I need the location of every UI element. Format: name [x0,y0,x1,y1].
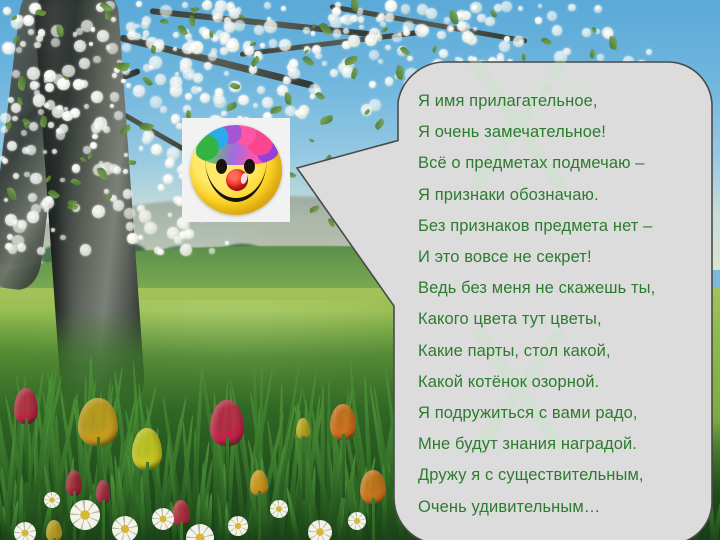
blossom-icon [4,198,8,202]
blossom-icon [26,145,36,155]
tulip-flower-icon [172,500,190,526]
blossom-icon [262,97,273,108]
blossom-icon [143,130,154,141]
blossom-icon [51,38,60,47]
blossom-icon [142,36,146,40]
blossom-icon [340,16,347,23]
blossom-icon [111,17,116,22]
blossom-icon [121,79,125,83]
tulip-flower-icon [14,388,38,424]
smiley-icon [190,125,282,215]
blossom-icon [92,205,105,218]
tulip-flower-icon [210,400,244,446]
tulip-flower-icon [132,428,162,470]
daisy-petals-icon [228,516,248,536]
blossom-icon [447,25,454,32]
blossom-icon [180,244,192,256]
blossom-icon [91,27,95,31]
blossom-icon [163,174,173,184]
blossom-icon [519,40,523,44]
blossom-icon [12,116,17,121]
blossom-icon [267,17,271,21]
blossom-icon [99,161,103,165]
poem-line: Я подружиться с вами радо, [418,398,708,429]
daisy-petals-icon [44,492,60,508]
blossom-icon [38,109,44,115]
blossom-icon [107,43,117,53]
blossom-icon [92,134,97,139]
leaf-icon [208,30,213,37]
blossom-icon [73,32,78,37]
blossom-icon [60,235,65,240]
flower-stem-icon [180,521,183,540]
tulip-flower-icon [250,470,268,496]
daisy-petals-icon [186,524,214,540]
blossom-icon [34,42,40,48]
blossom-icon [260,43,265,48]
blossom-icon [48,122,53,127]
blossom-icon [538,4,542,8]
blossom-icon [2,158,8,164]
leaf-icon [609,36,618,49]
blossom-icon [110,104,114,108]
blossom-icon [174,236,182,244]
flower-stem-icon [102,500,105,540]
daisy-petals-icon [14,522,36,540]
blossom-icon [112,73,117,78]
blossom-icon [342,41,351,50]
blossom-icon [189,44,198,53]
poem-text-block: Я имя прилагательное,Я очень замечательн… [418,86,708,523]
blossom-icon [126,222,134,230]
blossom-icon [568,4,575,11]
blossom-icon [141,21,148,28]
daisy-petals-icon [152,508,174,530]
blossom-icon [21,130,27,136]
blossom-icon [221,111,227,117]
poem-line: Какой котёнок озорной. [418,367,708,398]
blossom-icon [165,159,174,168]
daisy-flower-icon [14,522,36,540]
blossom-icon [24,172,30,178]
blossom-icon [191,86,199,94]
poem-line: Я признаки обозначаю. [418,180,708,211]
poem-line: И это вовсе не секрет! [418,242,708,273]
blossom-icon [114,111,123,120]
daisy-flower-icon [152,508,174,530]
blossom-icon [157,249,164,256]
blossom-icon [168,213,172,217]
tulip-flower-icon [66,470,82,496]
blossom-icon [380,21,386,27]
blossom-icon [385,13,394,22]
daisy-flower-icon [112,516,138,540]
blossom-icon [226,40,239,53]
blossom-icon [501,1,512,12]
blossom-icon [8,97,14,103]
blossom-icon [244,46,254,56]
daisy-petals-icon [70,500,100,530]
blossom-icon [470,2,481,13]
blossom-icon [104,189,109,194]
tulip-petals-icon [46,520,62,540]
blossom-icon [238,95,248,105]
blossom-icon [225,241,229,245]
blossom-icon [311,31,315,35]
blossom-icon [79,58,90,69]
poem-line: Я очень замечательное! [418,117,708,148]
blossom-icon [2,42,13,53]
blossom-icon [437,31,445,39]
blossom-icon [224,17,231,24]
tulip-flower-icon [46,520,62,540]
blossom-icon [485,17,494,26]
blossom-icon [38,29,46,37]
blossom-icon [113,200,124,211]
poem-line: Ведь без меня не скажешь ты, [418,273,708,304]
blossom-icon [378,13,385,20]
blossom-icon [33,94,45,106]
blossom-icon [582,28,591,37]
blossom-icon [127,31,136,40]
blossom-icon [13,220,26,233]
slide-canvas: so Я имя прилагательное,Я очень замечате… [0,0,720,540]
poem-line: Дружу я с существительным, [418,460,708,491]
blossom-icon [23,15,34,26]
blossom-icon [182,2,188,8]
flower-stem-icon [258,491,261,540]
poem-line: Мне будут знания наградой. [418,429,708,460]
flower-stem-icon [146,462,149,526]
smiley-image-frame [182,118,290,222]
blossom-icon [151,144,162,155]
blossom-icon [477,14,485,22]
poem-line: Какого цвета тут цветы, [418,304,708,335]
blossom-icon [127,233,138,244]
blossom-icon [213,13,223,23]
blossom-icon [158,184,164,190]
flower-stem-icon [226,438,229,502]
daisy-flower-icon [186,524,214,540]
blossom-icon [229,8,240,19]
tulip-flower-icon [78,398,118,446]
blossom-icon [133,85,145,97]
blossom-icon [28,29,34,35]
blossom-icon [62,111,72,121]
blossom-icon [72,164,81,173]
blossom-icon [269,39,278,48]
poem-line: Очень удивительным… [418,492,708,523]
blossom-icon [136,1,142,7]
blossom-icon [227,2,233,8]
poem-line: Без признаков предмета нет – [418,211,708,242]
blossom-icon [385,0,397,12]
blossom-icon [535,17,541,23]
blossom-icon [444,17,450,23]
blossom-icon [149,65,154,70]
poem-line: Я имя прилагательное, [418,86,708,117]
poem-line: Какие парты, стол какой, [418,336,708,367]
blossom-icon [110,92,119,101]
daisy-petals-icon [112,516,138,540]
blossom-icon [224,71,229,76]
blossom-icon [358,16,364,22]
blossom-icon [376,34,383,41]
blossom-icon [257,86,265,94]
blossom-icon [93,56,101,64]
blossom-icon [122,43,131,52]
blossom-icon [45,83,54,92]
blossom-icon [103,126,110,133]
blossom-icon [209,248,214,253]
blossom-icon [80,244,91,255]
daisy-flower-icon [228,516,248,536]
blossom-icon [144,222,157,235]
blossom-icon [57,78,69,90]
blossom-icon [123,169,128,174]
poem-line: Всё о предметах подмечаю – [418,148,708,179]
blossom-icon [30,173,42,185]
blossom-icon [20,41,26,47]
daisy-flower-icon [70,500,100,530]
flower-stem-icon [25,418,28,482]
daisy-flower-icon [44,492,60,508]
blossom-icon [552,25,563,36]
